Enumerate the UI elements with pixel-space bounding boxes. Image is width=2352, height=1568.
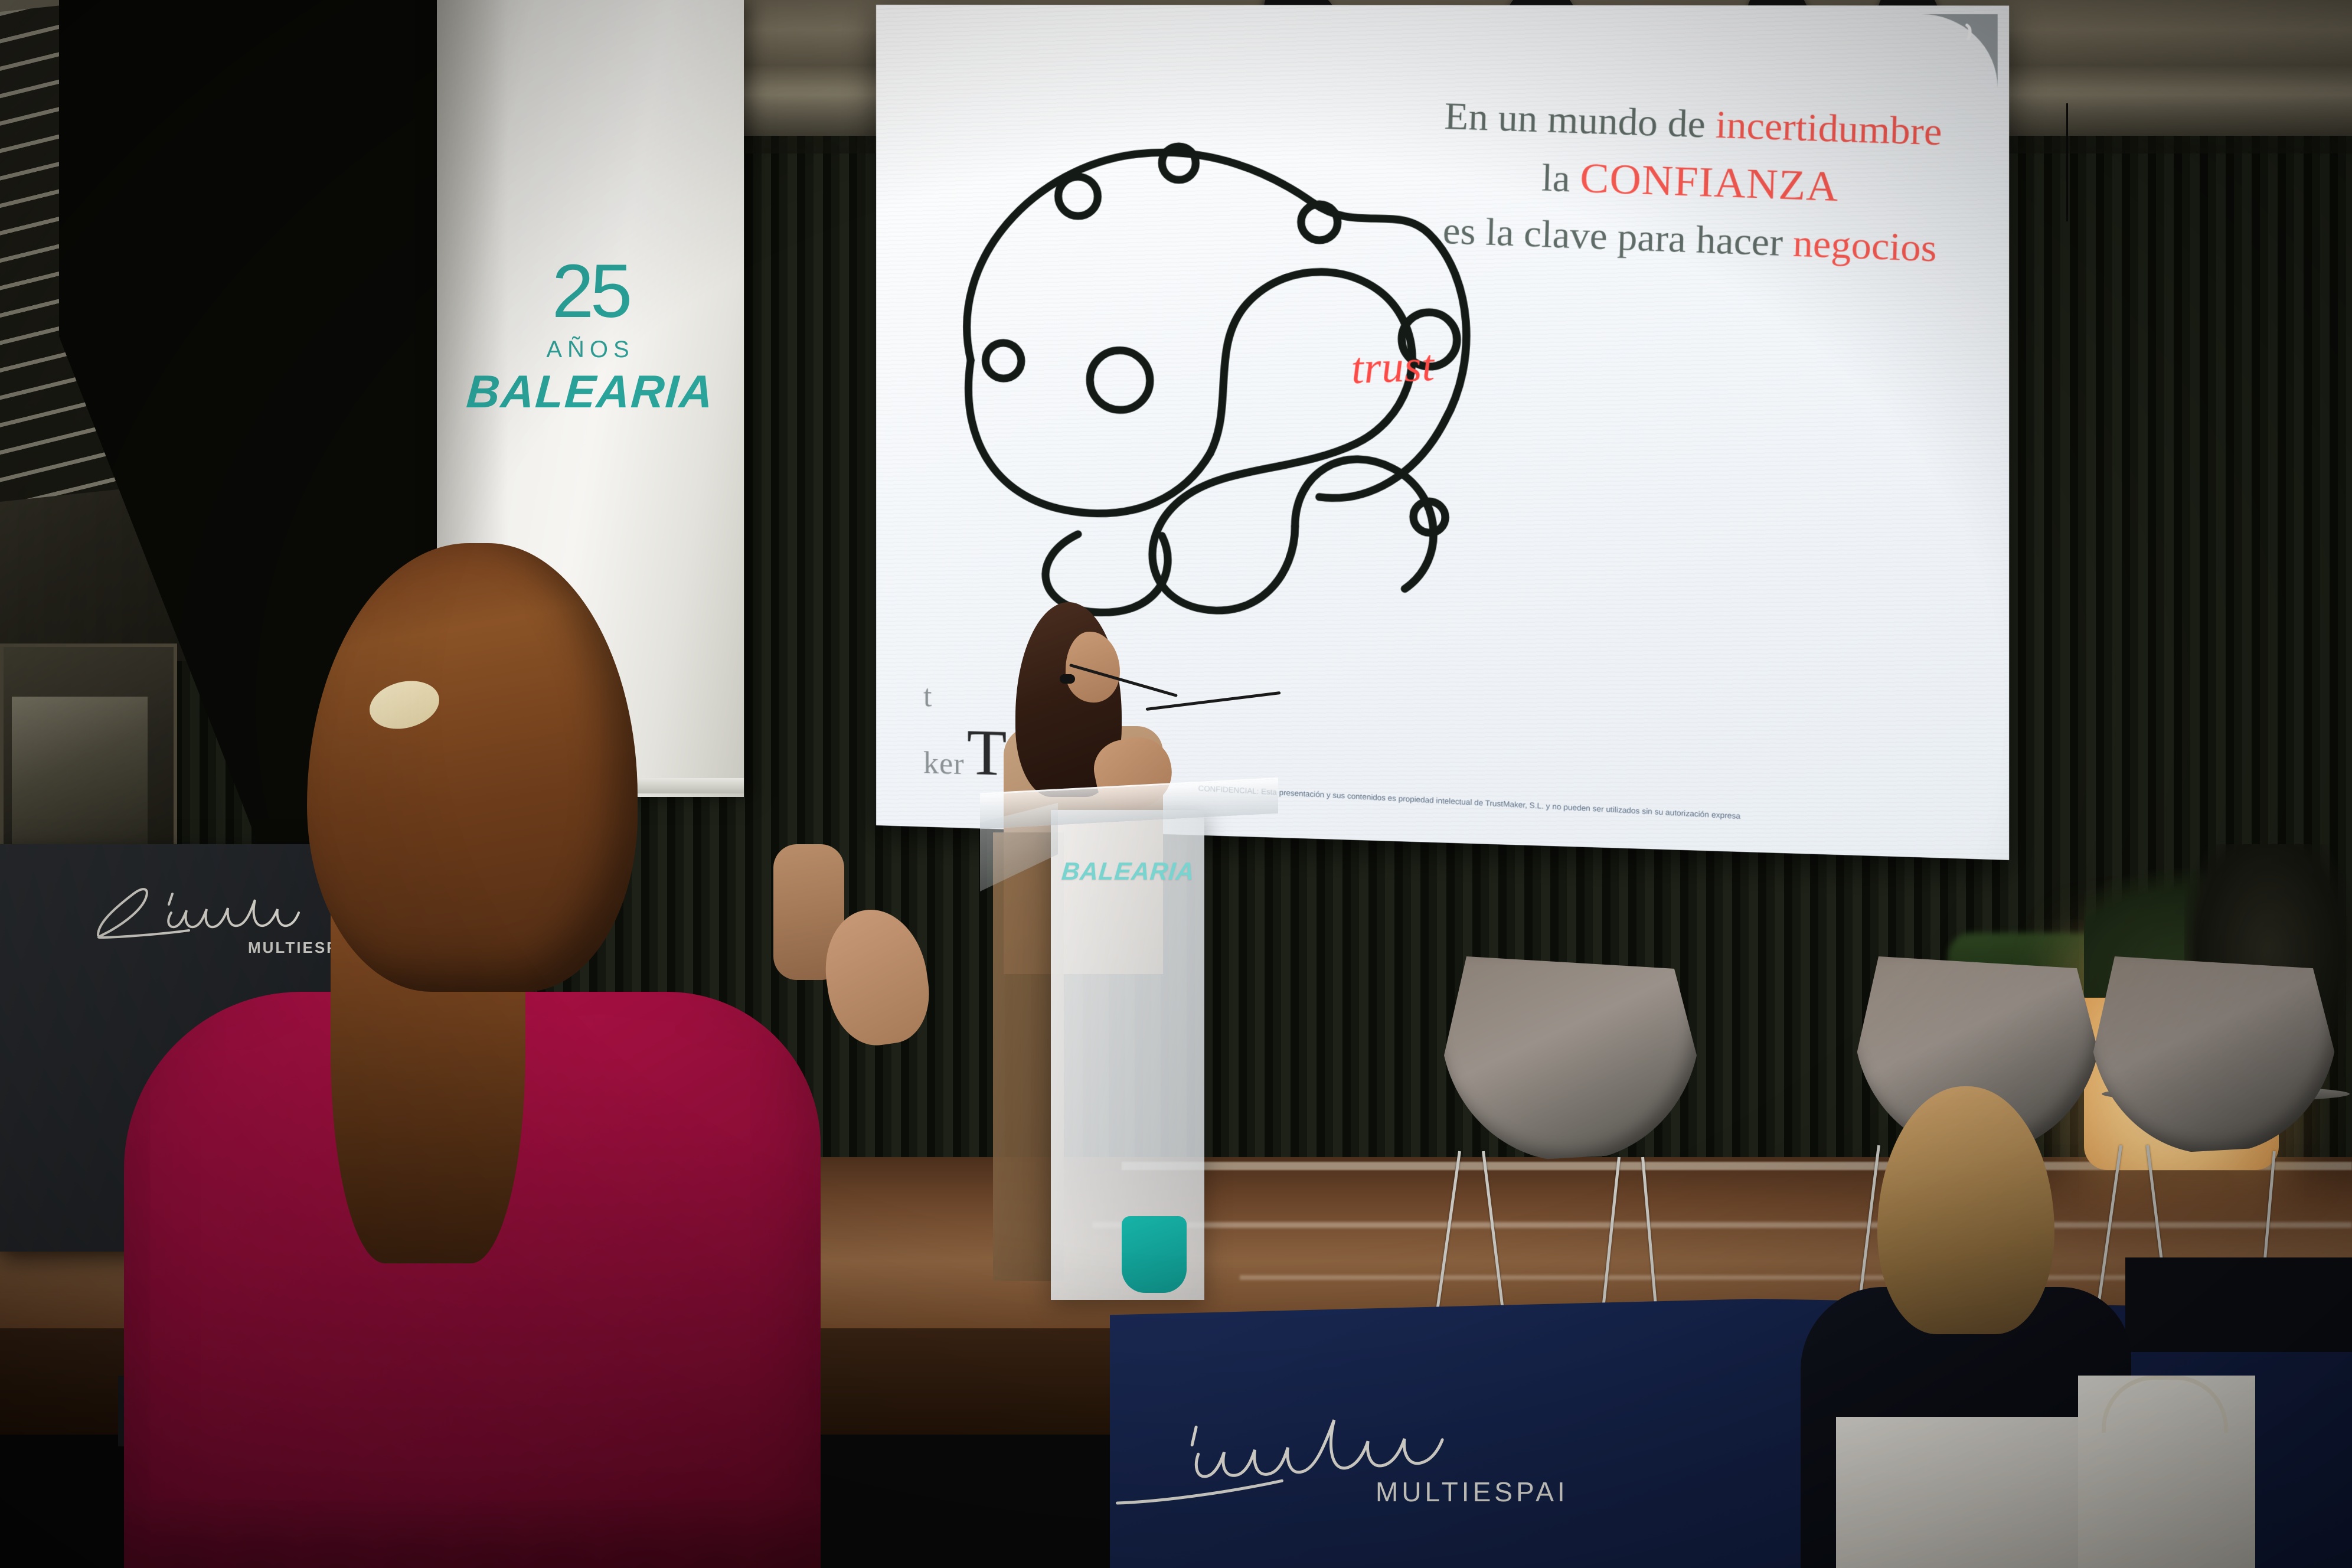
- banner-25-number: 25: [437, 254, 744, 329]
- trustmaker-word-fragment-top: t: [923, 680, 932, 714]
- banner-anos-label: AÑOS: [437, 337, 744, 363]
- slide-line-1-highlight: incertidumbre: [1715, 103, 1943, 153]
- slide-line-1-plain: En un mundo de: [1444, 94, 1716, 146]
- stage-chair: [1440, 956, 1700, 1287]
- chair-shell: [1440, 956, 1700, 1161]
- banner-brand-label: BALEARIA: [435, 365, 746, 419]
- teal-object-behind-podium: [1122, 1216, 1187, 1293]
- stage-skirt-subtitle-label: MULTIESPAI: [1376, 1476, 1569, 1508]
- slide-trust-word: trust: [1294, 338, 1492, 397]
- back-table: [2125, 1257, 2352, 1352]
- podium-brand-label: BALEARIA: [1053, 857, 1203, 886]
- stage-chair: [2090, 956, 2338, 1275]
- microphone-icon: [1060, 674, 1075, 684]
- trustmaker-t-letter: T: [967, 716, 1007, 789]
- slide-line-2-highlight: CONFIANZA: [1579, 155, 1839, 210]
- conference-photo-scene: 25 AÑOS BALEARIA trus: [0, 0, 2352, 1568]
- slide-line-3-plain: es la clave para hacer: [1442, 209, 1794, 264]
- slide-line-2-plain: la: [1541, 156, 1580, 200]
- slide-headline: En un mundo de incertidumbre la CONFIANZ…: [1415, 88, 1969, 277]
- trustmaker-word-fragment: ker: [923, 746, 965, 781]
- chair-shell: [2090, 956, 2338, 1154]
- light-cable: [2066, 103, 2068, 221]
- slide-line-3-highlight: negocios: [1792, 221, 1938, 270]
- audience-chair: [1836, 1417, 2113, 1568]
- slide-corner-ornament-icon: [1921, 14, 1997, 88]
